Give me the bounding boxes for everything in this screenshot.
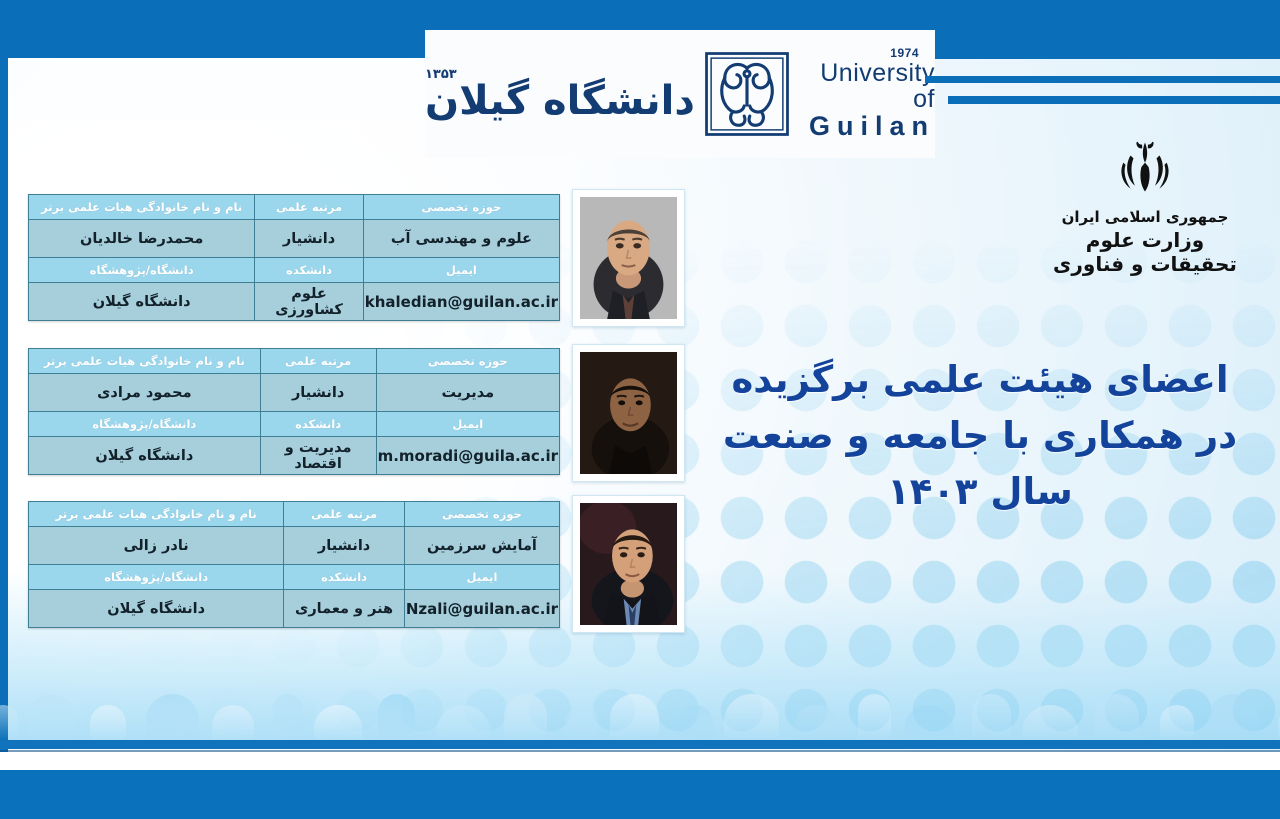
bottom-pattern-column bbox=[724, 694, 779, 741]
bottom-pattern-column bbox=[904, 705, 954, 741]
value-field: مدیریت bbox=[376, 374, 559, 412]
title-line-2: در همکاری با جامعه و صنعت bbox=[700, 408, 1260, 464]
bottom-pattern-column bbox=[610, 694, 659, 741]
bottom-pattern-column bbox=[146, 694, 199, 741]
bottom-pattern-column bbox=[0, 705, 18, 741]
bottom-pattern-column bbox=[212, 705, 254, 741]
table-row: ایمیل دانشکده دانشگاه/پژوهشگاه bbox=[29, 565, 560, 590]
member-table-1: حوزه تخصصی مرتبه علمی نام و نام خانوادگی… bbox=[28, 194, 560, 321]
header-rank: مرتبه علمی bbox=[260, 349, 376, 374]
bottom-pattern-column bbox=[676, 705, 714, 741]
header-name: نام و نام خانوادگی هیات علمی برتر bbox=[29, 195, 255, 220]
table-row: مدیریت دانشیار محمود مرادی bbox=[29, 374, 560, 412]
poster-canvas: 1974 University of Guilan bbox=[0, 0, 1280, 819]
value-faculty: علوم کشاورزی bbox=[255, 283, 363, 321]
value-name: محمود مرادی bbox=[29, 374, 261, 412]
table-row: ایمیل دانشکده دانشگاه/پژوهشگاه bbox=[29, 412, 560, 437]
bottom-rule-blue bbox=[0, 740, 1280, 749]
logo-year-en: 1974 bbox=[799, 47, 919, 60]
header-email: ایمیل bbox=[376, 412, 559, 437]
header-institution: دانشگاه/پژوهشگاه bbox=[29, 258, 255, 283]
header-field: حوزه تخصصی bbox=[363, 195, 559, 220]
bottom-pattern-column bbox=[1208, 694, 1259, 741]
value-email: khaledian@guilan.ac.ir bbox=[363, 283, 559, 321]
member-table-3: حوزه تخصصی مرتبه علمی نام و نام خانوادگی… bbox=[28, 501, 560, 628]
bottom-blue-bar bbox=[0, 770, 1280, 819]
logo-english-text: 1974 University of Guilan bbox=[799, 47, 935, 140]
university-logo-panel: 1974 University of Guilan bbox=[425, 30, 935, 158]
bottom-pattern-column bbox=[1022, 705, 1078, 741]
title-line-3: سال ۱۴۰۳ bbox=[700, 464, 1260, 520]
header-institution: دانشگاه/پژوهشگاه bbox=[29, 565, 284, 590]
bottom-pattern-column bbox=[314, 705, 362, 741]
bottom-pattern-column bbox=[1160, 705, 1194, 741]
portrait-zali bbox=[580, 503, 677, 625]
bottom-pattern-column bbox=[436, 705, 490, 741]
logo-line1-en: University of bbox=[799, 60, 935, 113]
header-field: حوزه تخصصی bbox=[376, 349, 559, 374]
title-line-1: اعضای هیئت علمی برگزیده bbox=[700, 352, 1260, 408]
portrait-moradi bbox=[580, 352, 677, 474]
bottom-pattern-column bbox=[794, 705, 838, 741]
table-row: آمایش سرزمین دانشیار نادر زالی bbox=[29, 527, 560, 565]
bottom-pattern-column bbox=[972, 694, 1011, 741]
header-name: نام و نام خانوادگی هیات علمی برتر bbox=[29, 502, 284, 527]
bottom-pattern-column bbox=[858, 694, 891, 741]
portrait-frame-3 bbox=[572, 495, 685, 633]
table-row: حوزه تخصصی مرتبه علمی نام و نام خانوادگی… bbox=[29, 195, 560, 220]
table-row: حوزه تخصصی مرتبه علمی نام و نام خانوادگی… bbox=[29, 502, 560, 527]
header-institution: دانشگاه/پژوهشگاه bbox=[29, 412, 261, 437]
value-institution: دانشگاه گیلان bbox=[29, 437, 261, 475]
portrait-frame-1 bbox=[572, 189, 685, 327]
accent-rule-2 bbox=[925, 76, 1280, 83]
member-table-2: حوزه تخصصی مرتبه علمی نام و نام خانوادگی… bbox=[28, 348, 560, 475]
value-faculty: مدیریت و اقتصاد bbox=[260, 437, 376, 475]
table-row: ایمیل دانشکده دانشگاه/پژوهشگاه bbox=[29, 258, 560, 283]
value-rank: دانشیار bbox=[260, 374, 376, 412]
logo-persian-text: ۱۳۵۳ دانشگاه گیلان bbox=[425, 68, 695, 121]
header-email: ایمیل bbox=[363, 258, 559, 283]
value-name: محمدرضا خالدیان bbox=[29, 220, 255, 258]
guilan-university-crest-icon bbox=[701, 48, 793, 140]
table-row: khaledian@guilan.ac.ir علوم کشاورزی دانش… bbox=[29, 283, 560, 321]
iran-national-emblem-icon bbox=[1109, 130, 1181, 204]
value-faculty: هنر و معماری bbox=[284, 590, 405, 628]
value-email: m.moradi@guila.ac.ir bbox=[376, 437, 559, 475]
bottom-pattern-column bbox=[28, 694, 75, 741]
logo-name-fa: دانشگاه گیلان bbox=[425, 81, 695, 121]
top-blue-band-right bbox=[935, 0, 1280, 58]
value-rank: دانشیار bbox=[284, 527, 405, 565]
logo-line2-en: Guilan bbox=[799, 112, 935, 140]
table-row: علوم و مهندسی آب دانشیار محمدرضا خالدیان bbox=[29, 220, 560, 258]
bottom-white-gap bbox=[0, 752, 1280, 770]
poster-title: اعضای هیئت علمی برگزیده در همکاری با جام… bbox=[700, 352, 1260, 521]
accent-rule-1 bbox=[935, 54, 1280, 59]
table-row: m.moradi@guila.ac.ir مدیریت و اقتصاد دان… bbox=[29, 437, 560, 475]
header-email: ایمیل bbox=[404, 565, 559, 590]
value-name: نادر زالی bbox=[29, 527, 284, 565]
ministry-line1: جمهوری اسلامی ایران bbox=[1040, 208, 1250, 226]
bottom-decorative-pattern bbox=[0, 689, 1280, 741]
header-rank: مرتبه علمی bbox=[255, 195, 363, 220]
value-field: آمایش سرزمین bbox=[404, 527, 559, 565]
header-field: حوزه تخصصی bbox=[404, 502, 559, 527]
bottom-pattern-column bbox=[566, 705, 598, 741]
value-institution: دانشگاه گیلان bbox=[29, 283, 255, 321]
ministry-line2: وزارت علوم تحقیقات و فناوری bbox=[1040, 228, 1250, 276]
ministry-emblem-block: جمهوری اسلامی ایران وزارت علوم تحقیقات و… bbox=[1040, 130, 1250, 276]
value-field: علوم و مهندسی آب bbox=[363, 220, 559, 258]
bottom-pattern-column bbox=[272, 694, 303, 741]
accent-rule-3 bbox=[948, 96, 1280, 104]
value-institution: دانشگاه گیلان bbox=[29, 590, 284, 628]
portrait-frame-2 bbox=[572, 344, 685, 482]
bottom-pattern-column bbox=[1094, 694, 1139, 741]
value-email: Nzali@guilan.ac.ir bbox=[404, 590, 559, 628]
header-faculty: دانشکده bbox=[284, 565, 405, 590]
bottom-pattern-column bbox=[378, 694, 415, 741]
portrait-khaledian bbox=[580, 197, 677, 319]
table-row: حوزه تخصصی مرتبه علمی نام و نام خانوادگی… bbox=[29, 349, 560, 374]
table-row: Nzali@guilan.ac.ir هنر و معماری دانشگاه … bbox=[29, 590, 560, 628]
header-rank: مرتبه علمی bbox=[284, 502, 405, 527]
bottom-pattern-column bbox=[504, 694, 547, 741]
header-faculty: دانشکده bbox=[255, 258, 363, 283]
bottom-pattern-column bbox=[90, 705, 126, 741]
header-name: نام و نام خانوادگی هیات علمی برتر bbox=[29, 349, 261, 374]
value-rank: دانشیار bbox=[255, 220, 363, 258]
header-faculty: دانشکده bbox=[260, 412, 376, 437]
